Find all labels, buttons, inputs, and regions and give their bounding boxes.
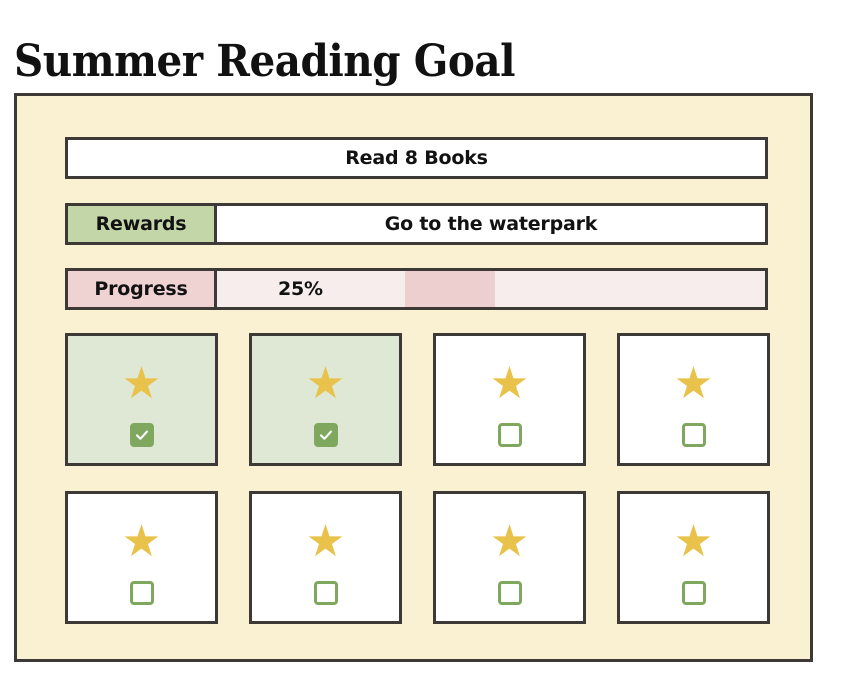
rewards-row: Rewards Go to the waterpark — [65, 203, 768, 245]
progress-bar-track: 25% — [217, 271, 765, 307]
star-checkbox[interactable] — [498, 423, 522, 447]
star-checkbox[interactable] — [498, 581, 522, 605]
star-icon: ★ — [306, 517, 345, 567]
progress-row: Progress 25% — [65, 268, 768, 310]
check-icon — [135, 428, 149, 442]
progress-label: Progress — [68, 271, 217, 307]
star-tile[interactable]: ★ — [617, 333, 770, 466]
rewards-value: Go to the waterpark — [217, 206, 765, 242]
star-checkbox[interactable] — [314, 423, 338, 447]
star-tile[interactable]: ★ — [249, 491, 402, 624]
star-grid: ★ ★ ★ ★ ★ — [65, 333, 768, 624]
star-icon: ★ — [674, 517, 713, 567]
star-tile[interactable]: ★ — [433, 491, 586, 624]
star-icon: ★ — [490, 359, 529, 409]
page-title: Summer Reading Goal — [14, 31, 515, 93]
star-checkbox[interactable] — [682, 581, 706, 605]
star-checkbox[interactable] — [314, 581, 338, 605]
rewards-label: Rewards — [68, 206, 217, 242]
star-tile[interactable]: ★ — [249, 333, 402, 466]
star-icon: ★ — [306, 359, 345, 409]
progress-percent-text: 25% — [278, 271, 323, 307]
star-checkbox[interactable] — [130, 581, 154, 605]
star-checkbox[interactable] — [130, 423, 154, 447]
goal-card: Read 8 Books Rewards Go to the waterpark… — [14, 93, 813, 662]
star-icon: ★ — [674, 359, 713, 409]
goal-text: Read 8 Books — [68, 140, 765, 176]
star-tile[interactable]: ★ — [65, 491, 218, 624]
progress-bar-fill — [405, 271, 495, 307]
star-tile[interactable]: ★ — [65, 333, 218, 466]
star-icon: ★ — [122, 517, 161, 567]
star-icon: ★ — [490, 517, 529, 567]
star-tile[interactable]: ★ — [617, 491, 770, 624]
star-tile[interactable]: ★ — [433, 333, 586, 466]
check-icon — [319, 428, 333, 442]
star-icon: ★ — [122, 359, 161, 409]
goal-row: Read 8 Books — [65, 137, 768, 179]
star-checkbox[interactable] — [682, 423, 706, 447]
